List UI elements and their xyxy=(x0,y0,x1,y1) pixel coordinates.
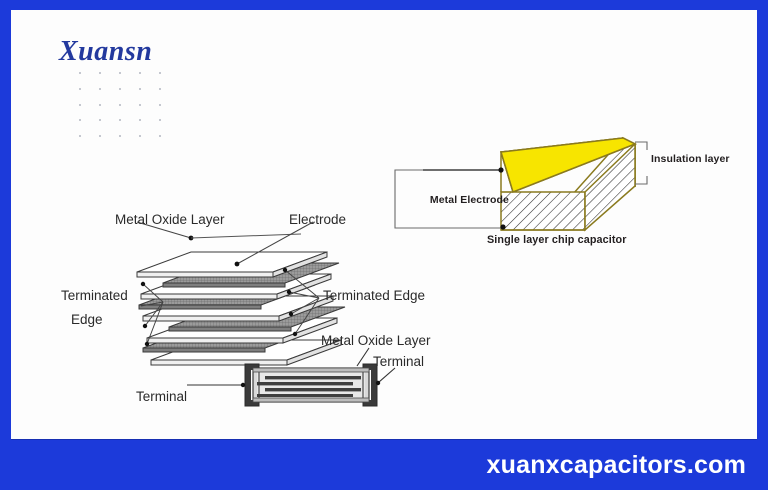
logo-dot-grid xyxy=(77,70,169,140)
insulation-layer-leader xyxy=(635,142,647,184)
footer-bar: xuanxcapacitors.com xyxy=(0,440,768,490)
terminated-edge-right-label: Terminated Edge xyxy=(323,288,425,303)
cross-section-diagram: Terminal Terminal Metal Oxide Layer xyxy=(161,328,481,423)
image-frame: Xuansn xyxy=(0,0,768,490)
terminal-left-label: Terminal xyxy=(136,389,187,404)
single-layer-chip-caption: Single layer chip capacitor xyxy=(487,234,627,246)
metal-oxide-layer-label-bottom: Metal Oxide Layer xyxy=(321,333,431,348)
metal-oxide-layer-label-top: Metal Oxide Layer xyxy=(115,212,225,227)
electrode-label: Electrode xyxy=(289,212,346,227)
content-panel: Xuansn xyxy=(11,10,757,439)
metal-electrode-label: Metal Electrode xyxy=(430,194,509,206)
terminated-edge-left-label-line2: Edge xyxy=(71,312,103,327)
footer-website-url: xuanxcapacitors.com xyxy=(487,451,746,480)
chip-front-face xyxy=(501,192,585,230)
terminated-edge-left-label-line1: Terminated xyxy=(61,288,128,303)
metal-oxide-layer-leader-bottom xyxy=(357,348,369,366)
terminal-right-label: Terminal xyxy=(373,354,424,369)
terminal-left-leader xyxy=(187,383,245,387)
terminal-right-leader xyxy=(376,368,395,385)
brand-logo: Xuansn xyxy=(59,36,152,68)
insulation-layer-label: Insulation layer xyxy=(651,153,730,165)
